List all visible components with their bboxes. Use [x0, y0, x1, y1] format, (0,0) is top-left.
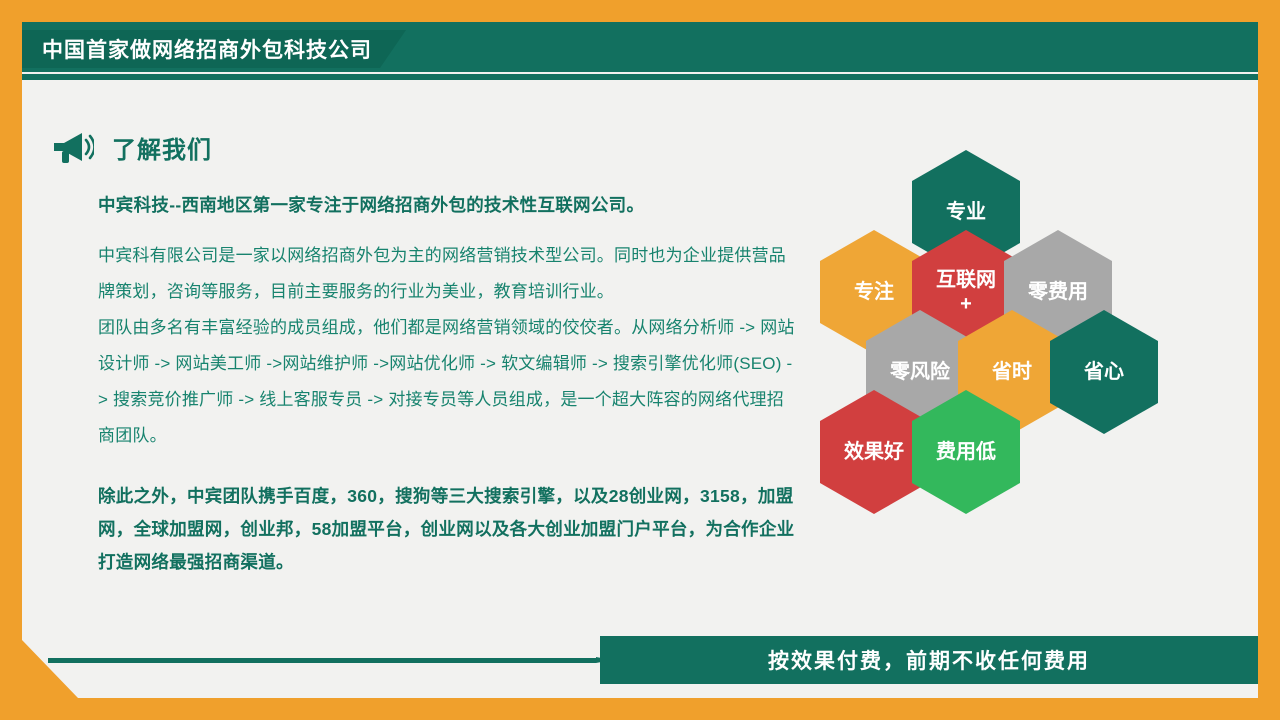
paragraph-1: 中宾科有限公司是一家以网络招商外包为主的网络营销技术型公司。同时也为企业提供营品…: [98, 238, 798, 310]
section-title: 了解我们: [112, 130, 212, 165]
header-title-container: 中国首家做网络招商外包科技公司: [22, 30, 406, 68]
hexagon-label: 效果好: [844, 440, 904, 464]
hexagon-label: 省心: [1084, 360, 1124, 384]
paragraph-2: 团队由多名有丰富经验的成员组成，他们都是网络营销领域的佼佼者。从网络分析师 ->…: [98, 310, 798, 454]
hexagon-label: 零风险: [890, 360, 950, 384]
hexagon-label: 专业: [946, 200, 986, 224]
footer-band: 按效果付费，前期不收任何费用: [600, 636, 1258, 684]
hexagon-label: 零费用: [1028, 280, 1088, 304]
hexagon-label: 专注: [854, 280, 894, 304]
hexagon-label: 省时: [992, 360, 1032, 384]
hexagon-label: 费用低: [936, 440, 996, 464]
closing-paragraph: 除此之外，中宾团队携手百度，360，搜狗等三大搜索引擎，以及28创业网，3158…: [98, 480, 798, 579]
lead-paragraph: 中宾科技--西南地区第一家专注于网络招商外包的技术性互联网公司。: [98, 190, 798, 220]
header-band-accent: [22, 74, 1258, 80]
hexagon-label: 互联网 +: [936, 268, 996, 316]
hexagon-cluster: 专业专注互联网 +零费用零风险省时省心效果好费用低: [820, 150, 1240, 570]
body-content: 中宾科技--西南地区第一家专注于网络招商外包的技术性互联网公司。 中宾科有限公司…: [98, 190, 798, 579]
header-title: 中国首家做网络招商外包科技公司: [42, 34, 372, 64]
slide-canvas: 中国首家做网络招商外包科技公司 了解我们 中宾科技--西南地区第一家专注于网络招…: [0, 0, 1280, 720]
megaphone-icon: [50, 131, 94, 165]
footer-accent-line: [48, 658, 596, 663]
section-heading: 了解我们: [50, 130, 212, 165]
footer-text: 按效果付费，前期不收任何费用: [768, 645, 1090, 675]
